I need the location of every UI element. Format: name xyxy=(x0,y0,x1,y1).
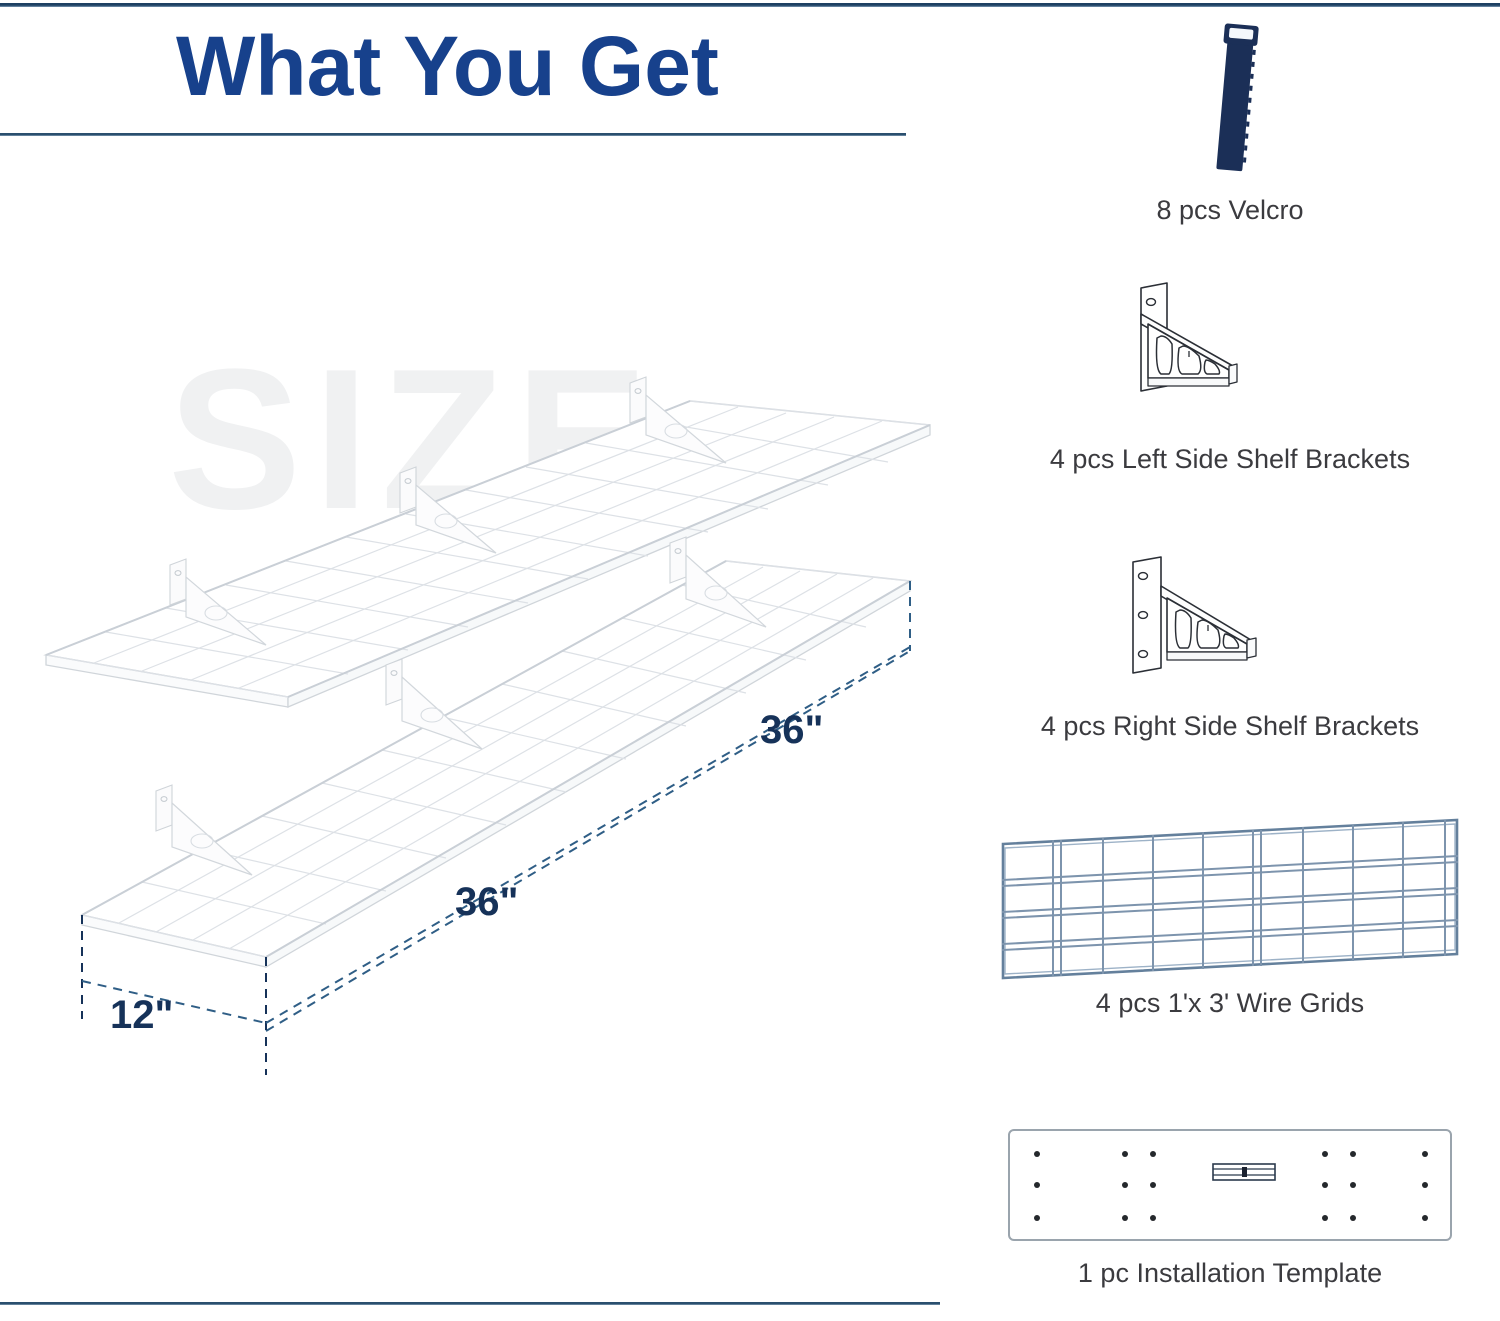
part-item-velcro: 8 pcs Velcro xyxy=(960,14,1500,226)
dimension-label-lower-36: 36" xyxy=(455,880,518,925)
part-item-right-bracket: 4 pcs Right Side Shelf Brackets xyxy=(960,540,1500,742)
part-label-installation-template: 1 pc Installation Template xyxy=(960,1257,1500,1289)
part-label-wire-grid: 4 pcs 1'x 3' Wire Grids xyxy=(960,987,1500,1019)
velcro-strap-icon xyxy=(1170,14,1290,194)
right-shelf-bracket-icon xyxy=(1115,540,1345,710)
left-shelf-bracket-icon xyxy=(1115,278,1345,443)
installation-template-icon xyxy=(995,1122,1465,1257)
part-item-wire-grid: 4 pcs 1'x 3' Wire Grids xyxy=(960,812,1500,1019)
parts-list: 8 pcs Velcro xyxy=(960,0,1500,1321)
part-label-velcro: 8 pcs Velcro xyxy=(960,194,1500,226)
title-underline-rule xyxy=(0,133,906,136)
bubble-level-icon xyxy=(1213,1164,1275,1180)
infographic-page: What You Get SIZE xyxy=(0,0,1500,1321)
dimension-label-depth-12: 12" xyxy=(110,993,173,1038)
page-title: What You Get xyxy=(176,22,719,110)
bottom-divider-rule xyxy=(0,1302,940,1305)
part-label-left-bracket: 4 pcs Left Side Shelf Brackets xyxy=(960,443,1500,475)
part-label-right-bracket: 4 pcs Right Side Shelf Brackets xyxy=(960,710,1500,742)
dimension-label-upper-36: 36" xyxy=(760,708,823,753)
part-item-left-bracket: 4 pcs Left Side Shelf Brackets xyxy=(960,278,1500,475)
part-item-installation-template: 1 pc Installation Template xyxy=(960,1122,1500,1289)
wire-grid-icon xyxy=(995,812,1465,987)
